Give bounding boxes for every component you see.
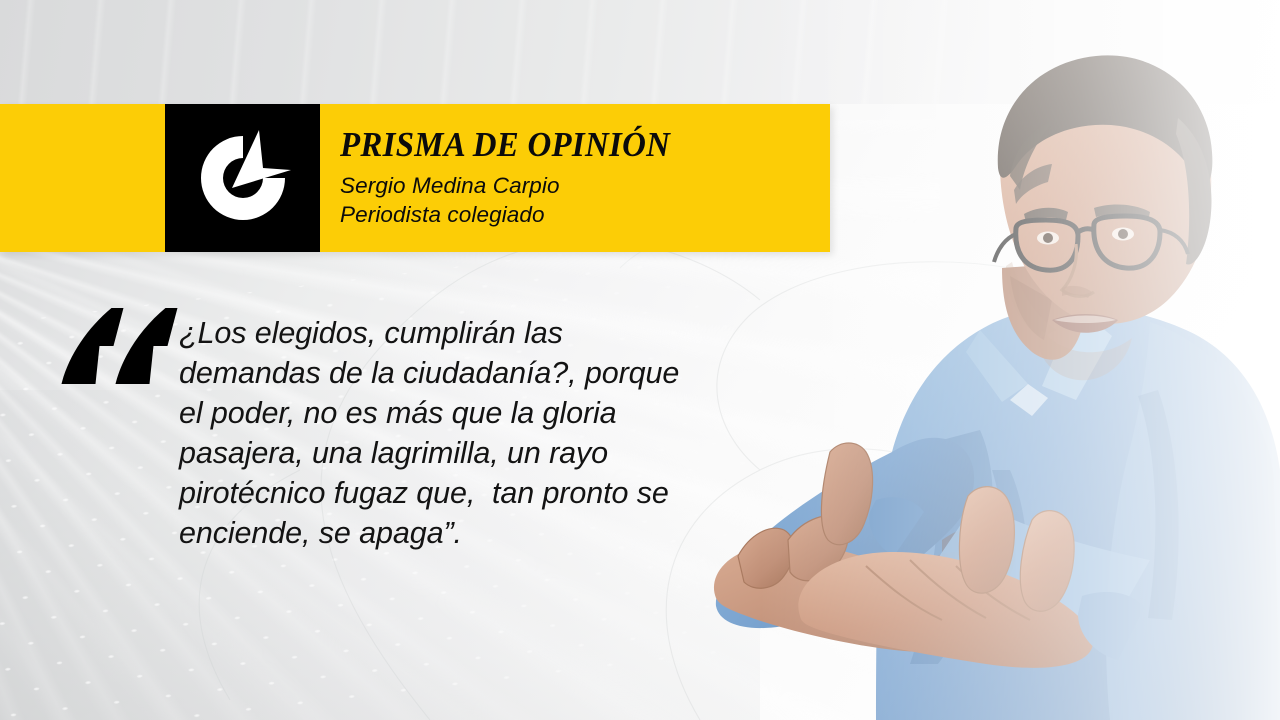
quote-line-1: ¿Los elegidos, cumplirán las (179, 313, 699, 353)
banner-author-name: Sergio Medina Carpio (340, 172, 830, 201)
quote-line-2: demandas de la ciudadanía?, porque (179, 353, 699, 393)
quote-text: ¿Los elegidos, cumplirán las demandas de… (179, 313, 699, 553)
open-quote-icon (58, 284, 178, 404)
quote-line-3: el poder, no es más que la gloria (179, 393, 699, 433)
quote-line-4: pasajera, una lagrimilla, un rayo (179, 433, 699, 473)
banner-text-block: PRISMA DE OPINIÓN Sergio Medina Carpio P… (320, 104, 830, 252)
header-banner: PRISMA DE OPINIÓN Sergio Medina Carpio P… (0, 104, 830, 252)
banner-author-role: Periodista colegiado (340, 201, 830, 230)
quote-line-6: enciende, se apaga”. (179, 513, 699, 553)
logo-container (165, 104, 320, 252)
banner-left-fill (0, 104, 165, 252)
slide-canvas: PRISMA DE OPINIÓN Sergio Medina Carpio P… (0, 0, 1280, 720)
banner-title: PRISMA DE OPINIÓN (340, 127, 801, 162)
prisma-swirl-arrow-logo-icon (187, 122, 299, 234)
quote-line-5: pirotécnico fugaz que, tan pronto se (179, 473, 699, 513)
